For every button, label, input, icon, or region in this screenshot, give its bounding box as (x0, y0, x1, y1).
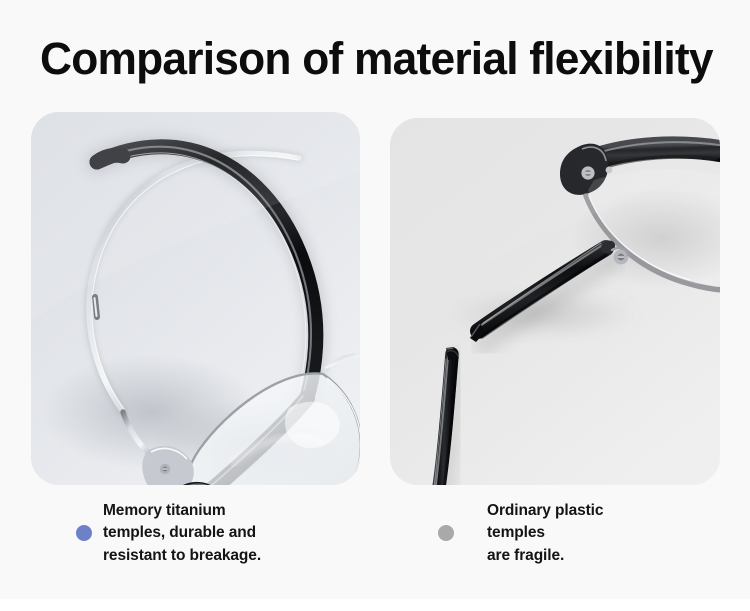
product-comparison-page: Comparison of material flexibility (0, 0, 750, 611)
caption-ordinary-plastic-text: Ordinary plastic temples are fragile. (487, 500, 603, 567)
bullet-dot-icon (76, 525, 92, 541)
memory-titanium-glasses-image (31, 112, 360, 485)
caption-memory-titanium: Memory titanium temples, durable and res… (76, 500, 261, 567)
memory-titanium-panel (31, 112, 360, 485)
broken-plastic-temple-image (390, 118, 720, 485)
bullet-dot-icon (438, 525, 454, 541)
page-title: Comparison of material flexibility (40, 33, 720, 85)
ordinary-plastic-panel (390, 118, 720, 485)
caption-ordinary-plastic: Ordinary plastic temples are fragile. (438, 500, 603, 567)
bottom-white-strip (0, 599, 750, 611)
caption-memory-titanium-text: Memory titanium temples, durable and res… (103, 500, 261, 567)
